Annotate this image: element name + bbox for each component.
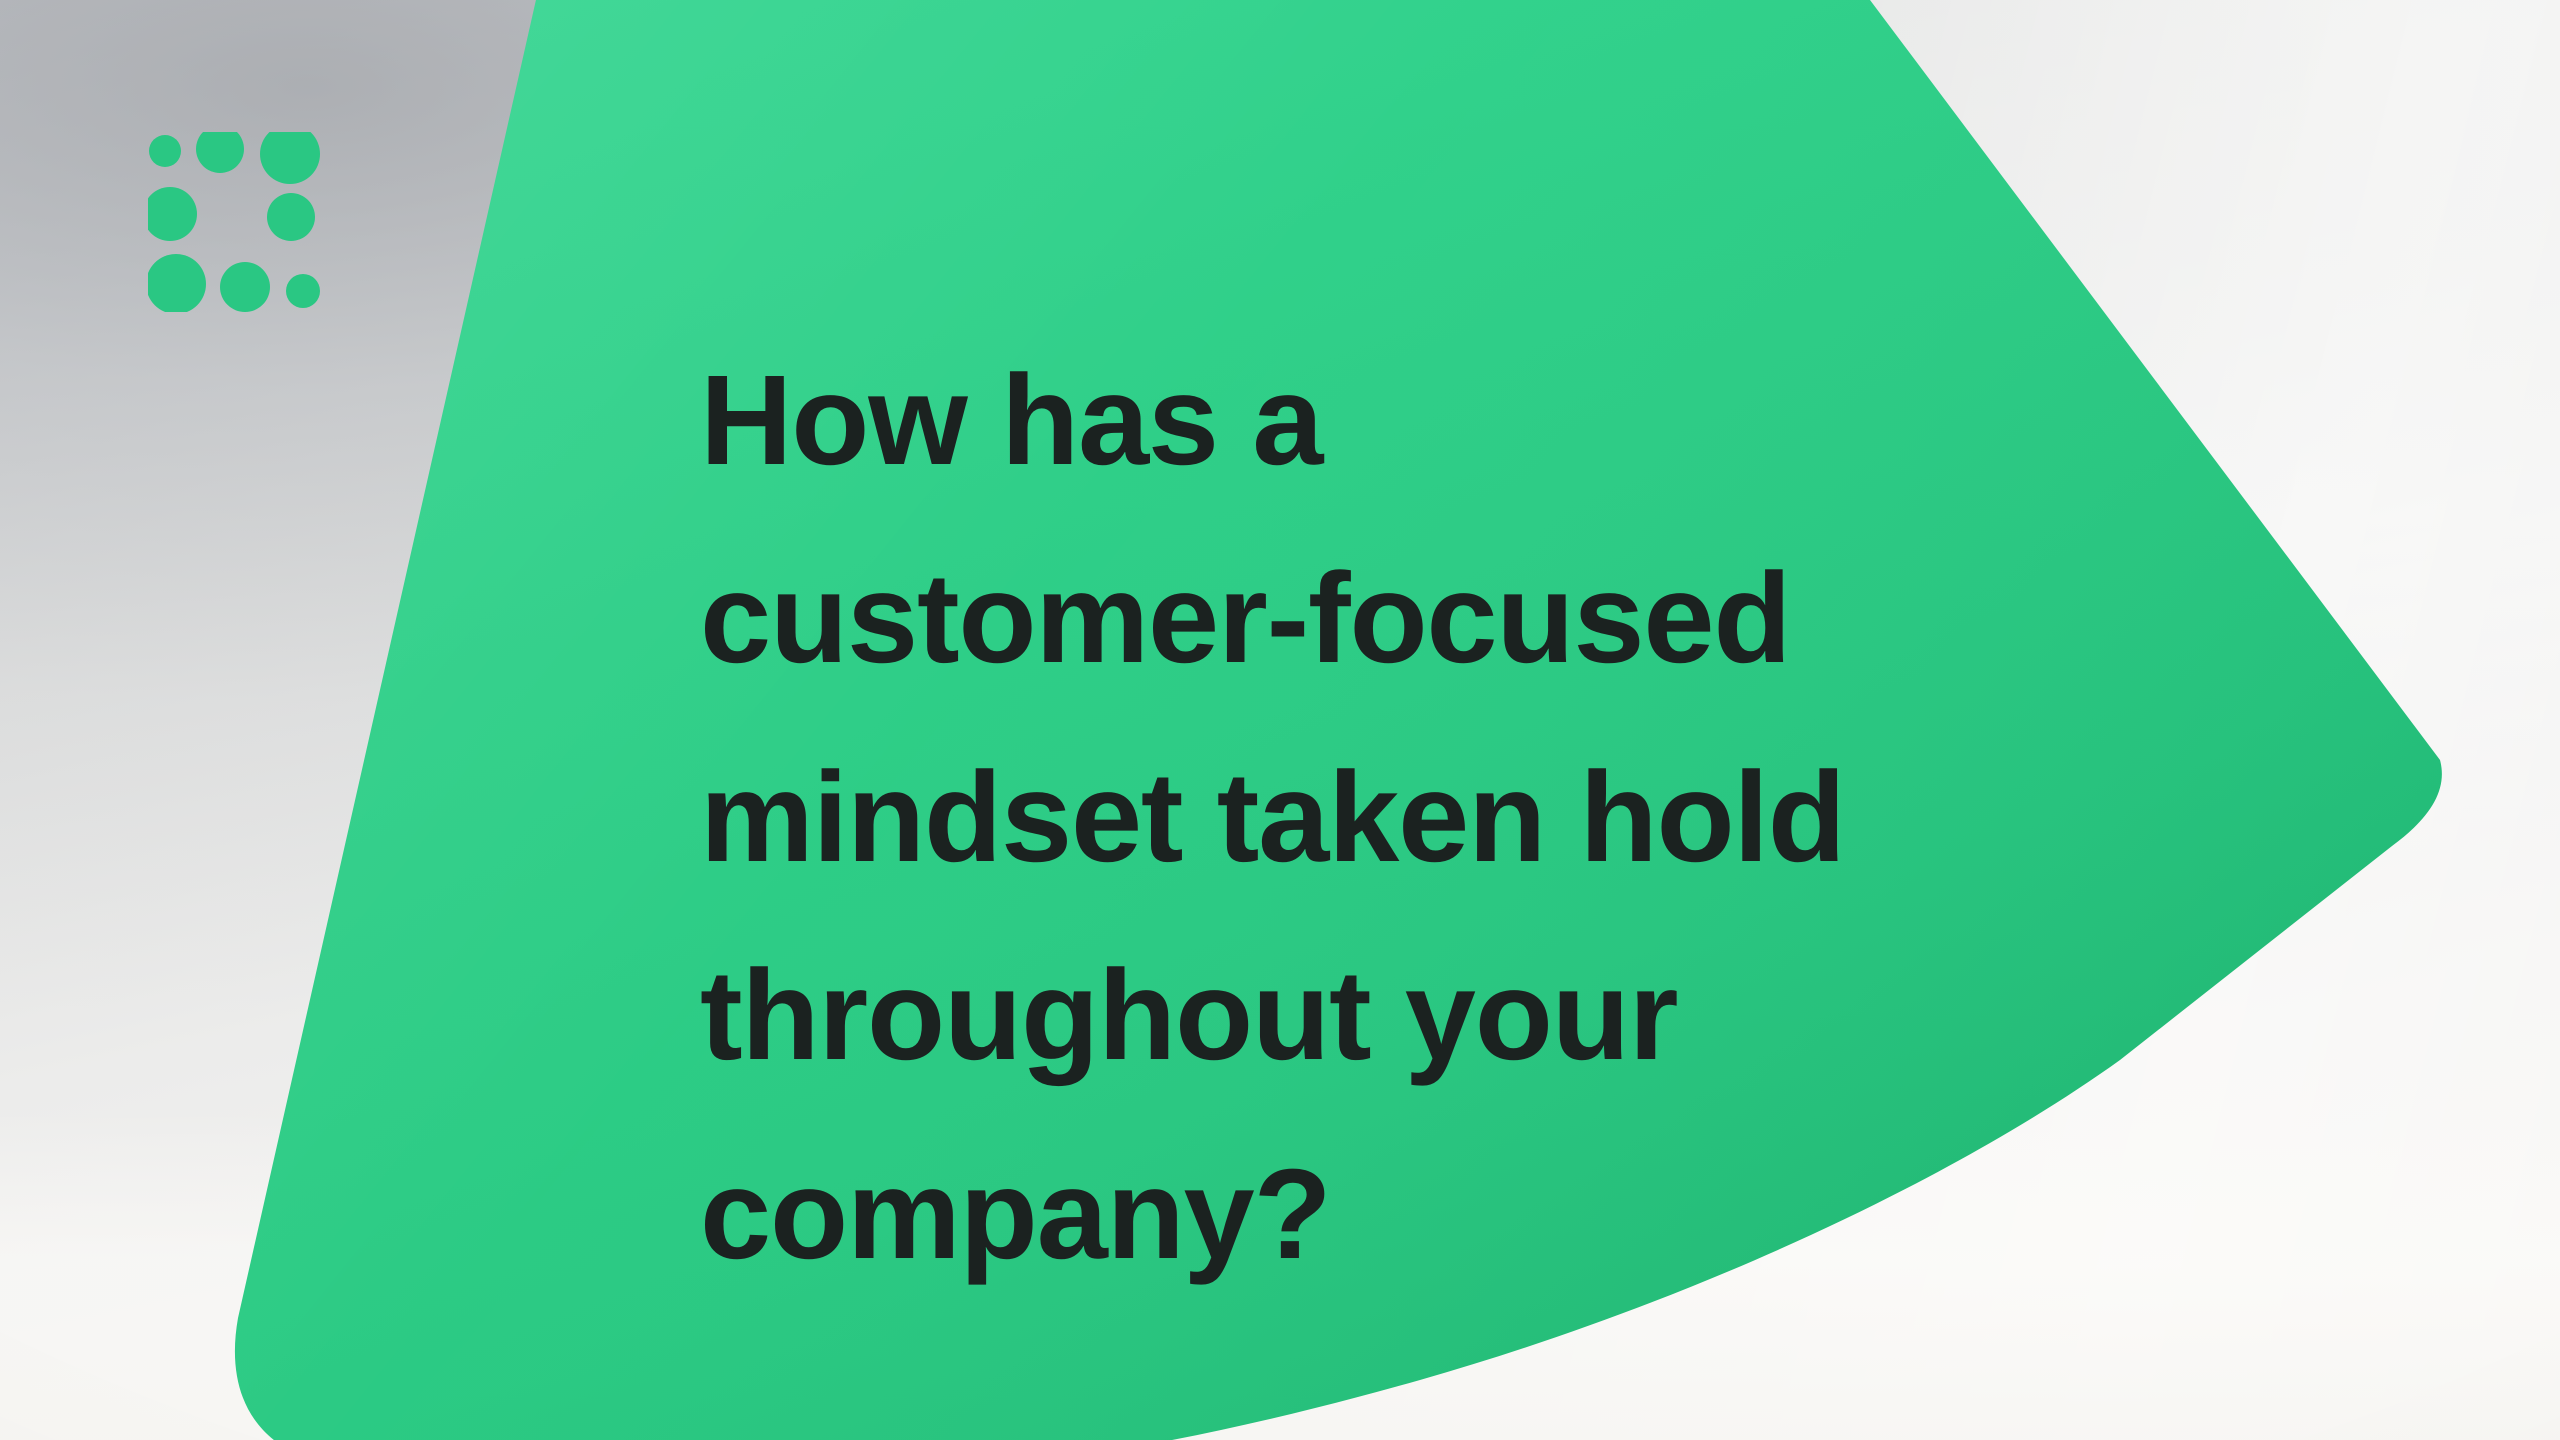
logo-dot [196, 132, 244, 173]
slide-canvas: How has a customer-focused mindset taken… [0, 0, 2560, 1440]
logo-dot [220, 262, 270, 312]
logo-dot [267, 193, 315, 241]
logo-dot [149, 135, 181, 167]
logo-dot [260, 132, 320, 184]
logo-dot [148, 254, 206, 312]
logo-dot [286, 274, 320, 308]
dot-grid-logo [148, 132, 328, 312]
slide-headline: How has a customer-focused mindset taken… [700, 322, 2160, 1314]
logo-dot [148, 187, 197, 241]
